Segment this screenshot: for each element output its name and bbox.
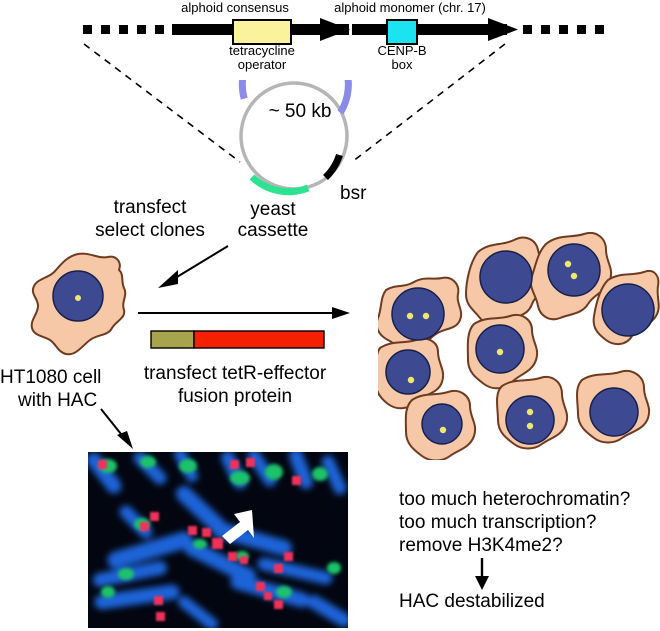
tetr-effector-fusion-bar <box>150 330 325 350</box>
arrow-to-cell-cluster <box>138 303 353 323</box>
label-yeast-cassette-line1: yeast <box>208 198 338 221</box>
outcome-question-3: remove H3K4me2? <box>399 534 563 557</box>
fish-micrograph <box>88 452 348 628</box>
cell-cluster <box>378 232 660 460</box>
label-ht1080-cell-line1: HT1080 cell <box>0 366 101 389</box>
label-ht1080-cell-line2: with HAC <box>18 389 97 412</box>
label-bsr: bsr <box>340 182 390 205</box>
step-transfect-line1: transfect <box>85 196 215 219</box>
step-transfect-tetr-line1: transfect tetR-effector <box>130 362 340 385</box>
step-transfect-tetr-line2: fusion protein <box>130 385 340 408</box>
outcome-question-2: too much transcription? <box>399 511 597 534</box>
plasmid-size-label: ~ 50 kb <box>240 100 360 123</box>
outcome-result: HAC destabilized <box>399 590 545 613</box>
outcome-question-1: too much heterochromatin? <box>399 488 630 511</box>
label-yeast-cassette-line2: cassette <box>208 219 338 242</box>
arrow-to-outcome <box>468 558 498 592</box>
arrow-transfect-to-cell <box>150 240 240 300</box>
step-transfect-line2: select clones <box>85 219 215 242</box>
arrow-cell-to-fish <box>95 405 155 455</box>
